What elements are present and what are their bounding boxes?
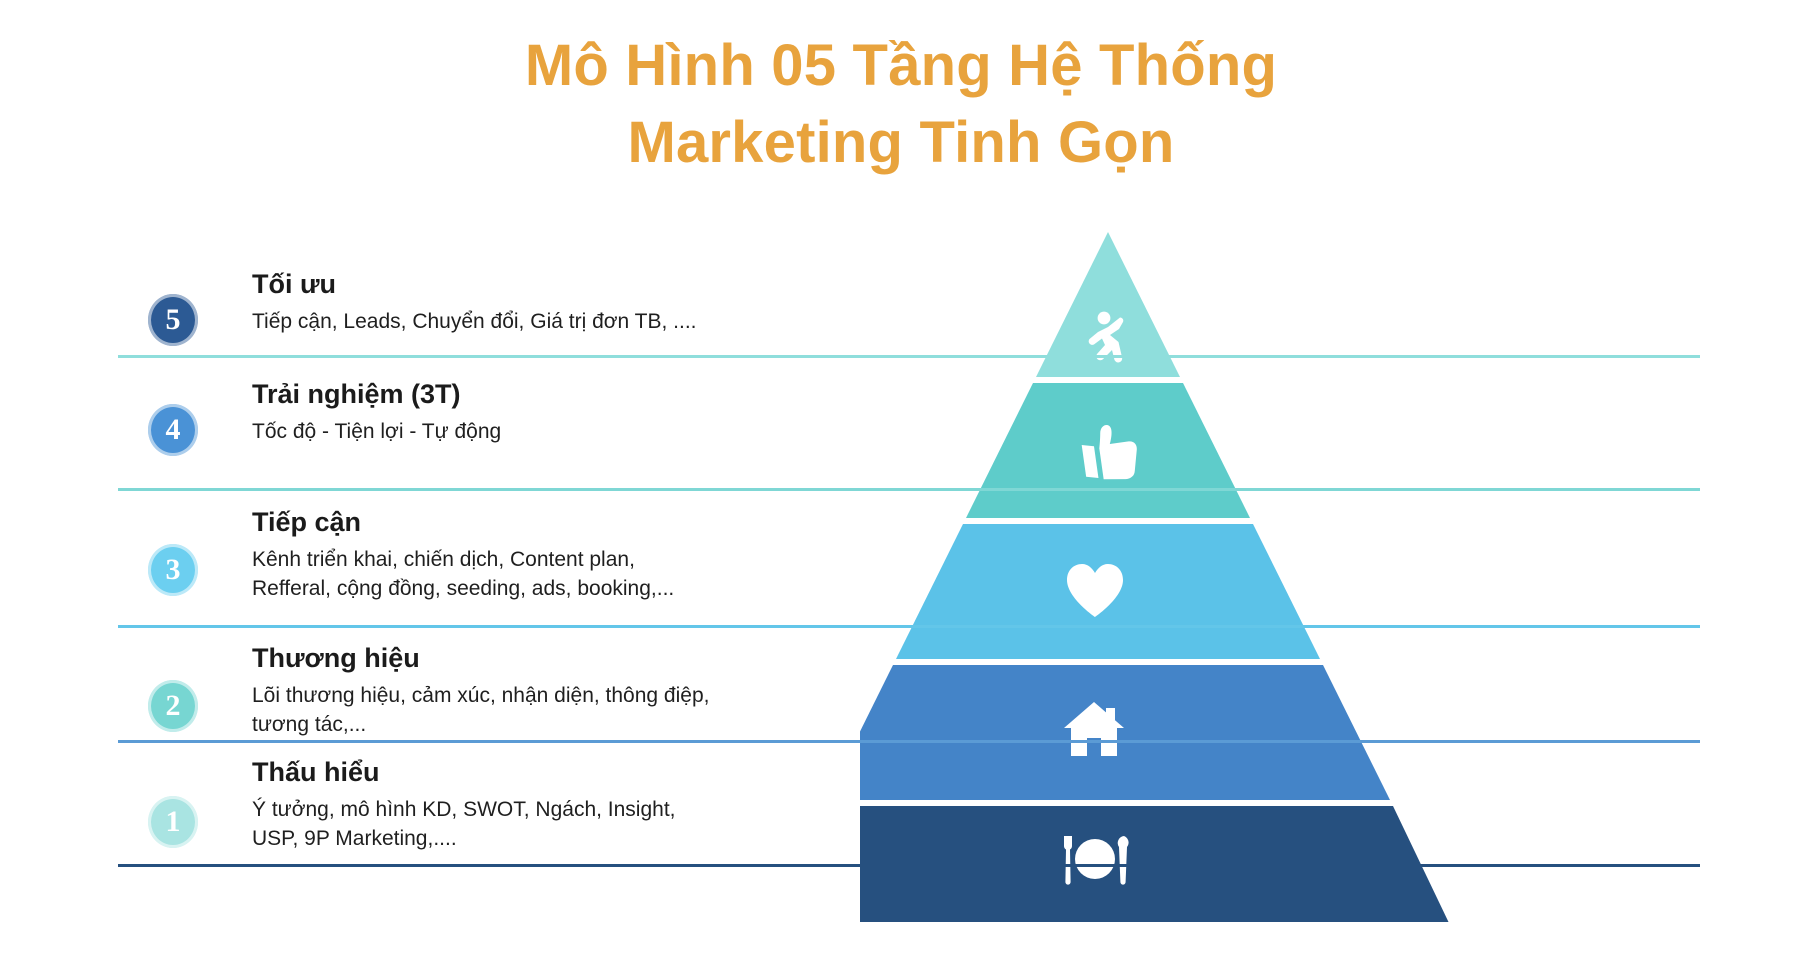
level-divider-4 (118, 488, 1700, 491)
level-badge-4: 4 (148, 404, 198, 456)
slide-canvas: Mô Hình 05 Tầng Hệ Thống Marketing Tinh … (0, 0, 1802, 976)
level-desc-3: Kênh triển khai, chiến dịch, Content pla… (252, 546, 1152, 604)
level-title-3: Tiếp cận (252, 506, 1152, 539)
level-desc-4: Tốc độ - Tiện lợi - Tự động (252, 418, 1152, 447)
level-text-3: Tiếp cận Kênh triển khai, chiến dịch, Co… (252, 506, 1152, 604)
level-divider-2 (118, 740, 1700, 743)
level-text-2: Thương hiệu Lõi thương hiệu, cảm xúc, nh… (252, 642, 1152, 740)
level-divider-5 (118, 355, 1700, 358)
page-title: Mô Hình 05 Tầng Hệ Thống Marketing Tinh … (0, 28, 1802, 181)
level-text-5: Tối ưu Tiếp cận, Leads, Chuyển đổi, Giá … (252, 268, 1152, 337)
level-text-4: Trải nghiệm (3T) Tốc độ - Tiện lợi - Tự … (252, 378, 1152, 447)
level-divider-3 (118, 625, 1700, 628)
title-line-1: Mô Hình 05 Tầng Hệ Thống (0, 28, 1802, 105)
level-text-1: Thấu hiểu Ý tưởng, mô hình KD, SWOT, Ngá… (252, 756, 1152, 854)
level-title-4: Trải nghiệm (3T) (252, 378, 1152, 411)
level-list: 5 Tối ưu Tiếp cận, Leads, Chuyển đổi, Gi… (0, 232, 1700, 932)
level-divider-1 (118, 864, 1700, 867)
level-title-1: Thấu hiểu (252, 756, 1152, 789)
level-title-5: Tối ưu (252, 268, 1152, 301)
level-title-2: Thương hiệu (252, 642, 1152, 675)
level-desc-5: Tiếp cận, Leads, Chuyển đổi, Giá trị đơn… (252, 308, 1152, 337)
level-badge-5: 5 (148, 294, 198, 346)
level-badge-1: 1 (148, 796, 198, 848)
level-badge-2: 2 (148, 680, 198, 732)
level-desc-2: Lõi thương hiệu, cảm xúc, nhận diện, thô… (252, 682, 1152, 740)
level-desc-1: Ý tưởng, mô hình KD, SWOT, Ngách, Insigh… (252, 796, 1152, 854)
title-line-2: Marketing Tinh Gọn (0, 105, 1802, 182)
level-badge-3: 3 (148, 544, 198, 596)
